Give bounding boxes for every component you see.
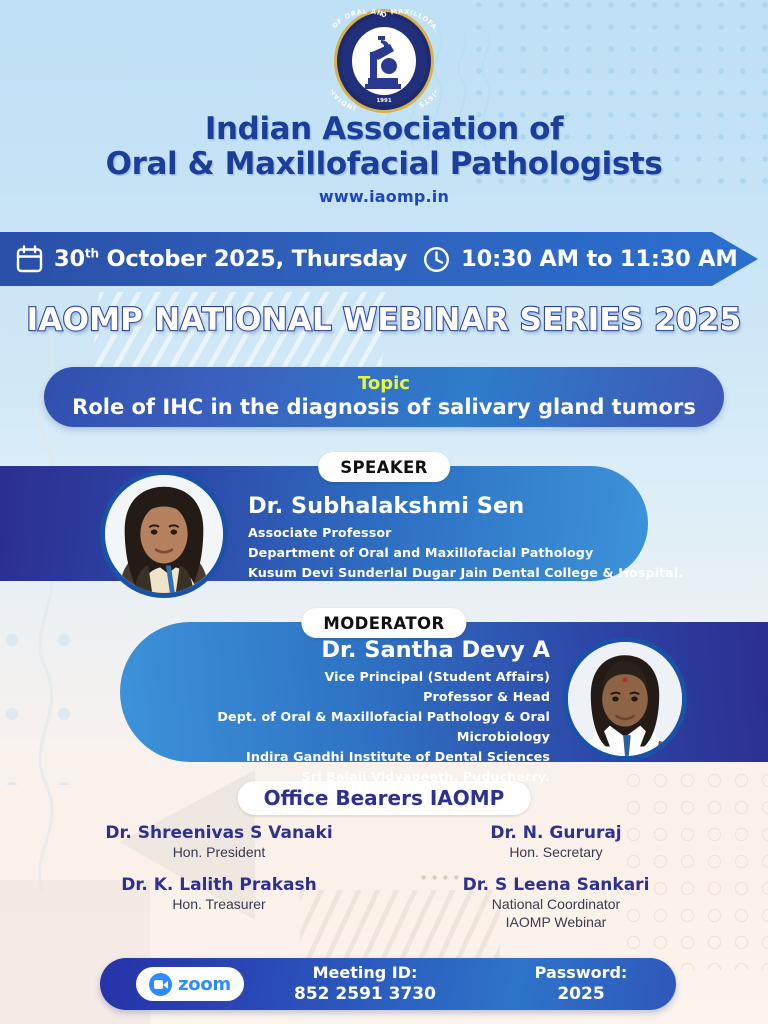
speaker-line: Associate Professor xyxy=(248,523,683,543)
topic-banner: Topic Role of IHC in the diagnosis of sa… xyxy=(44,367,724,427)
meeting-id-field: Meeting ID: 852 2591 3730 xyxy=(244,963,486,1006)
iaomp-logo: INDIAN ASSOCIATION OF ORAL AND MAXILLOFA… xyxy=(332,8,436,114)
zoom-meeting-bar: zoom Meeting ID: 852 2591 3730 Password:… xyxy=(100,958,676,1010)
office-bearer: Dr. Shreenivas S Vanaki Hon. President xyxy=(54,822,384,862)
bearer-name: Dr. K. Lalith Prakash xyxy=(54,874,384,896)
zoom-wordmark: zoom xyxy=(178,974,231,995)
office-bearer: Dr. N. Gururaj Hon. Secretary xyxy=(384,822,728,862)
moderator-name: Dr. Santha Devy A xyxy=(150,636,550,664)
date-time-banner: 30th October 2025, Thursday 10:30 AM to … xyxy=(0,232,758,286)
moderator-line: Dept. of Oral & Maxillofacial Pathology … xyxy=(150,707,550,747)
moderator-line: Professor & Head xyxy=(150,687,550,707)
date-suffix: th xyxy=(85,247,99,261)
bearer-role: National Coordinator IAOMP Webinar xyxy=(384,896,728,932)
moderator-badge: MODERATOR xyxy=(301,608,466,638)
moderator-photo xyxy=(563,637,687,761)
office-bearer: Dr. S Leena Sankari National Coordinator… xyxy=(384,874,728,932)
meeting-id-label: Meeting ID: xyxy=(244,963,486,984)
password-value[interactable]: 2025 xyxy=(486,983,676,1005)
date-group: 30th October 2025, Thursday xyxy=(16,245,407,273)
office-bearers-left-column: Dr. Shreenivas S Vanaki Hon. President D… xyxy=(0,822,384,944)
date-text: 30th October 2025, Thursday xyxy=(54,246,407,272)
bearer-role: Hon. Treasurer xyxy=(54,896,384,914)
bearer-role: Hon. President xyxy=(54,844,384,862)
bearer-role: Hon. Secretary xyxy=(384,844,728,862)
clock-icon xyxy=(423,246,450,273)
title-line-1: Indian Association of xyxy=(0,112,768,147)
association-title: Indian Association of Oral & Maxillofaci… xyxy=(0,112,768,206)
speaker-details: Dr. Subhalakshmi Sen Associate Professor… xyxy=(248,492,683,583)
series-title: IAOMP NATIONAL WEBINAR SERIES 2025 xyxy=(0,302,768,338)
calendar-icon xyxy=(16,245,43,273)
title-line-2: Oral & Maxillofacial Pathologists xyxy=(0,147,768,182)
bearer-name: Dr. S Leena Sankari xyxy=(384,874,728,896)
moderator-line: Indira Gandhi Institute of Dental Scienc… xyxy=(150,747,550,767)
password-field: Password: 2025 xyxy=(486,963,676,1006)
svg-text:1991: 1991 xyxy=(376,98,391,104)
moderator-line: Vice Principal (Student Affairs) xyxy=(150,667,550,687)
topic-text: Role of IHC in the diagnosis of salivary… xyxy=(72,395,696,419)
speaker-photo xyxy=(100,470,228,598)
date-rest: October 2025, Thursday xyxy=(99,246,407,272)
meeting-id-value[interactable]: 852 2591 3730 xyxy=(244,983,486,1005)
speaker-badge: SPEAKER xyxy=(318,452,450,482)
topic-label: Topic xyxy=(358,375,410,394)
bearer-name: Dr. N. Gururaj xyxy=(384,822,728,844)
office-bearers-section: Dr. Shreenivas S Vanaki Hon. President D… xyxy=(0,822,768,944)
zoom-logo[interactable]: zoom xyxy=(136,967,244,1001)
moderator-line: Sri Balaji Vidyapeeth, Puducherry. xyxy=(150,767,550,787)
password-label: Password: xyxy=(486,963,676,984)
office-bearers-right-column: Dr. N. Gururaj Hon. Secretary Dr. S Leen… xyxy=(384,822,768,944)
bearer-name: Dr. Shreenivas S Vanaki xyxy=(54,822,384,844)
speaker-line: Department of Oral and Maxillofacial Pat… xyxy=(248,543,683,563)
moderator-details: Dr. Santha Devy A Vice Principal (Studen… xyxy=(150,636,550,788)
website-link[interactable]: www.iaomp.in xyxy=(0,187,768,206)
time-text: 10:30 AM to 11:30 AM xyxy=(461,246,737,272)
speaker-line: Kusum Devi Sunderlal Dugar Jain Dental C… xyxy=(248,563,683,583)
time-group: 10:30 AM to 11:30 AM xyxy=(423,246,737,273)
date-day: 30 xyxy=(54,246,85,272)
speaker-name: Dr. Subhalakshmi Sen xyxy=(248,492,683,520)
office-bearer: Dr. K. Lalith Prakash Hon. Treasurer xyxy=(54,874,384,914)
webinar-poster: INDIAN ASSOCIATION OF ORAL AND MAXILLOFA… xyxy=(0,0,768,1024)
zoom-camera-icon xyxy=(149,973,172,996)
